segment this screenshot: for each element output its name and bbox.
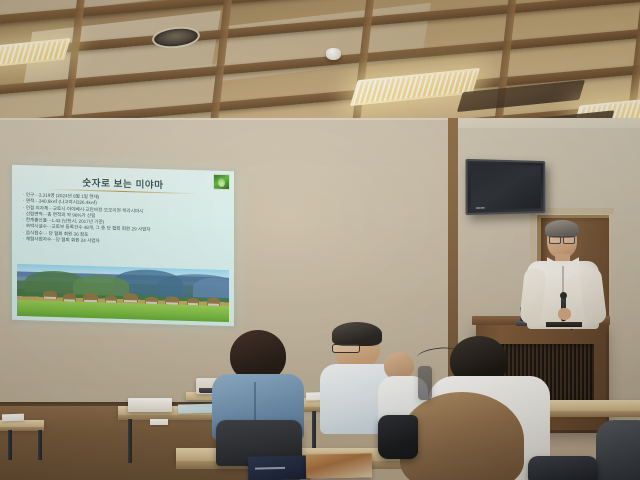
attendee-torso [596,420,640,480]
attendee-right-edge [596,420,640,480]
stacked-handouts [128,398,172,412]
slide-bullet-list: 인구···3,319명 (2024년 8월 1일 현재) 면적···340.6k… [17,192,229,249]
stacking-chair [528,456,598,480]
black-backpack [378,415,418,459]
attendee-hair [400,392,524,480]
attendee-glasses [332,344,360,353]
wall-mounted-monitor[interactable]: ▬▬ [466,159,546,215]
attendee-hair [332,322,382,346]
speaker-at-podium [520,222,606,332]
smoke-detector [326,48,341,60]
monitor-brand-label: ▬▬ [476,204,485,209]
presentation-room-photo: ▬▬ 숫자로 보는 미야마 인구···3,319명 (2024년 8월 1일 현… [0,0,640,480]
monitor-screen [471,164,541,210]
presenter-belt [546,322,582,327]
slide-village-photo [17,264,229,322]
photo-brochure [306,453,372,478]
stacking-chair [418,366,432,400]
printed-documents [2,414,24,422]
miyama-green-logo-icon [213,174,230,191]
printed-documents [150,419,168,425]
presenter-glasses [549,236,575,242]
presenter-hand [558,308,571,320]
navy-brochure [248,455,311,480]
projected-slide: 숫자로 보는 미야마 인구···3,319명 (2024년 8월 1일 현재) … [12,165,234,327]
